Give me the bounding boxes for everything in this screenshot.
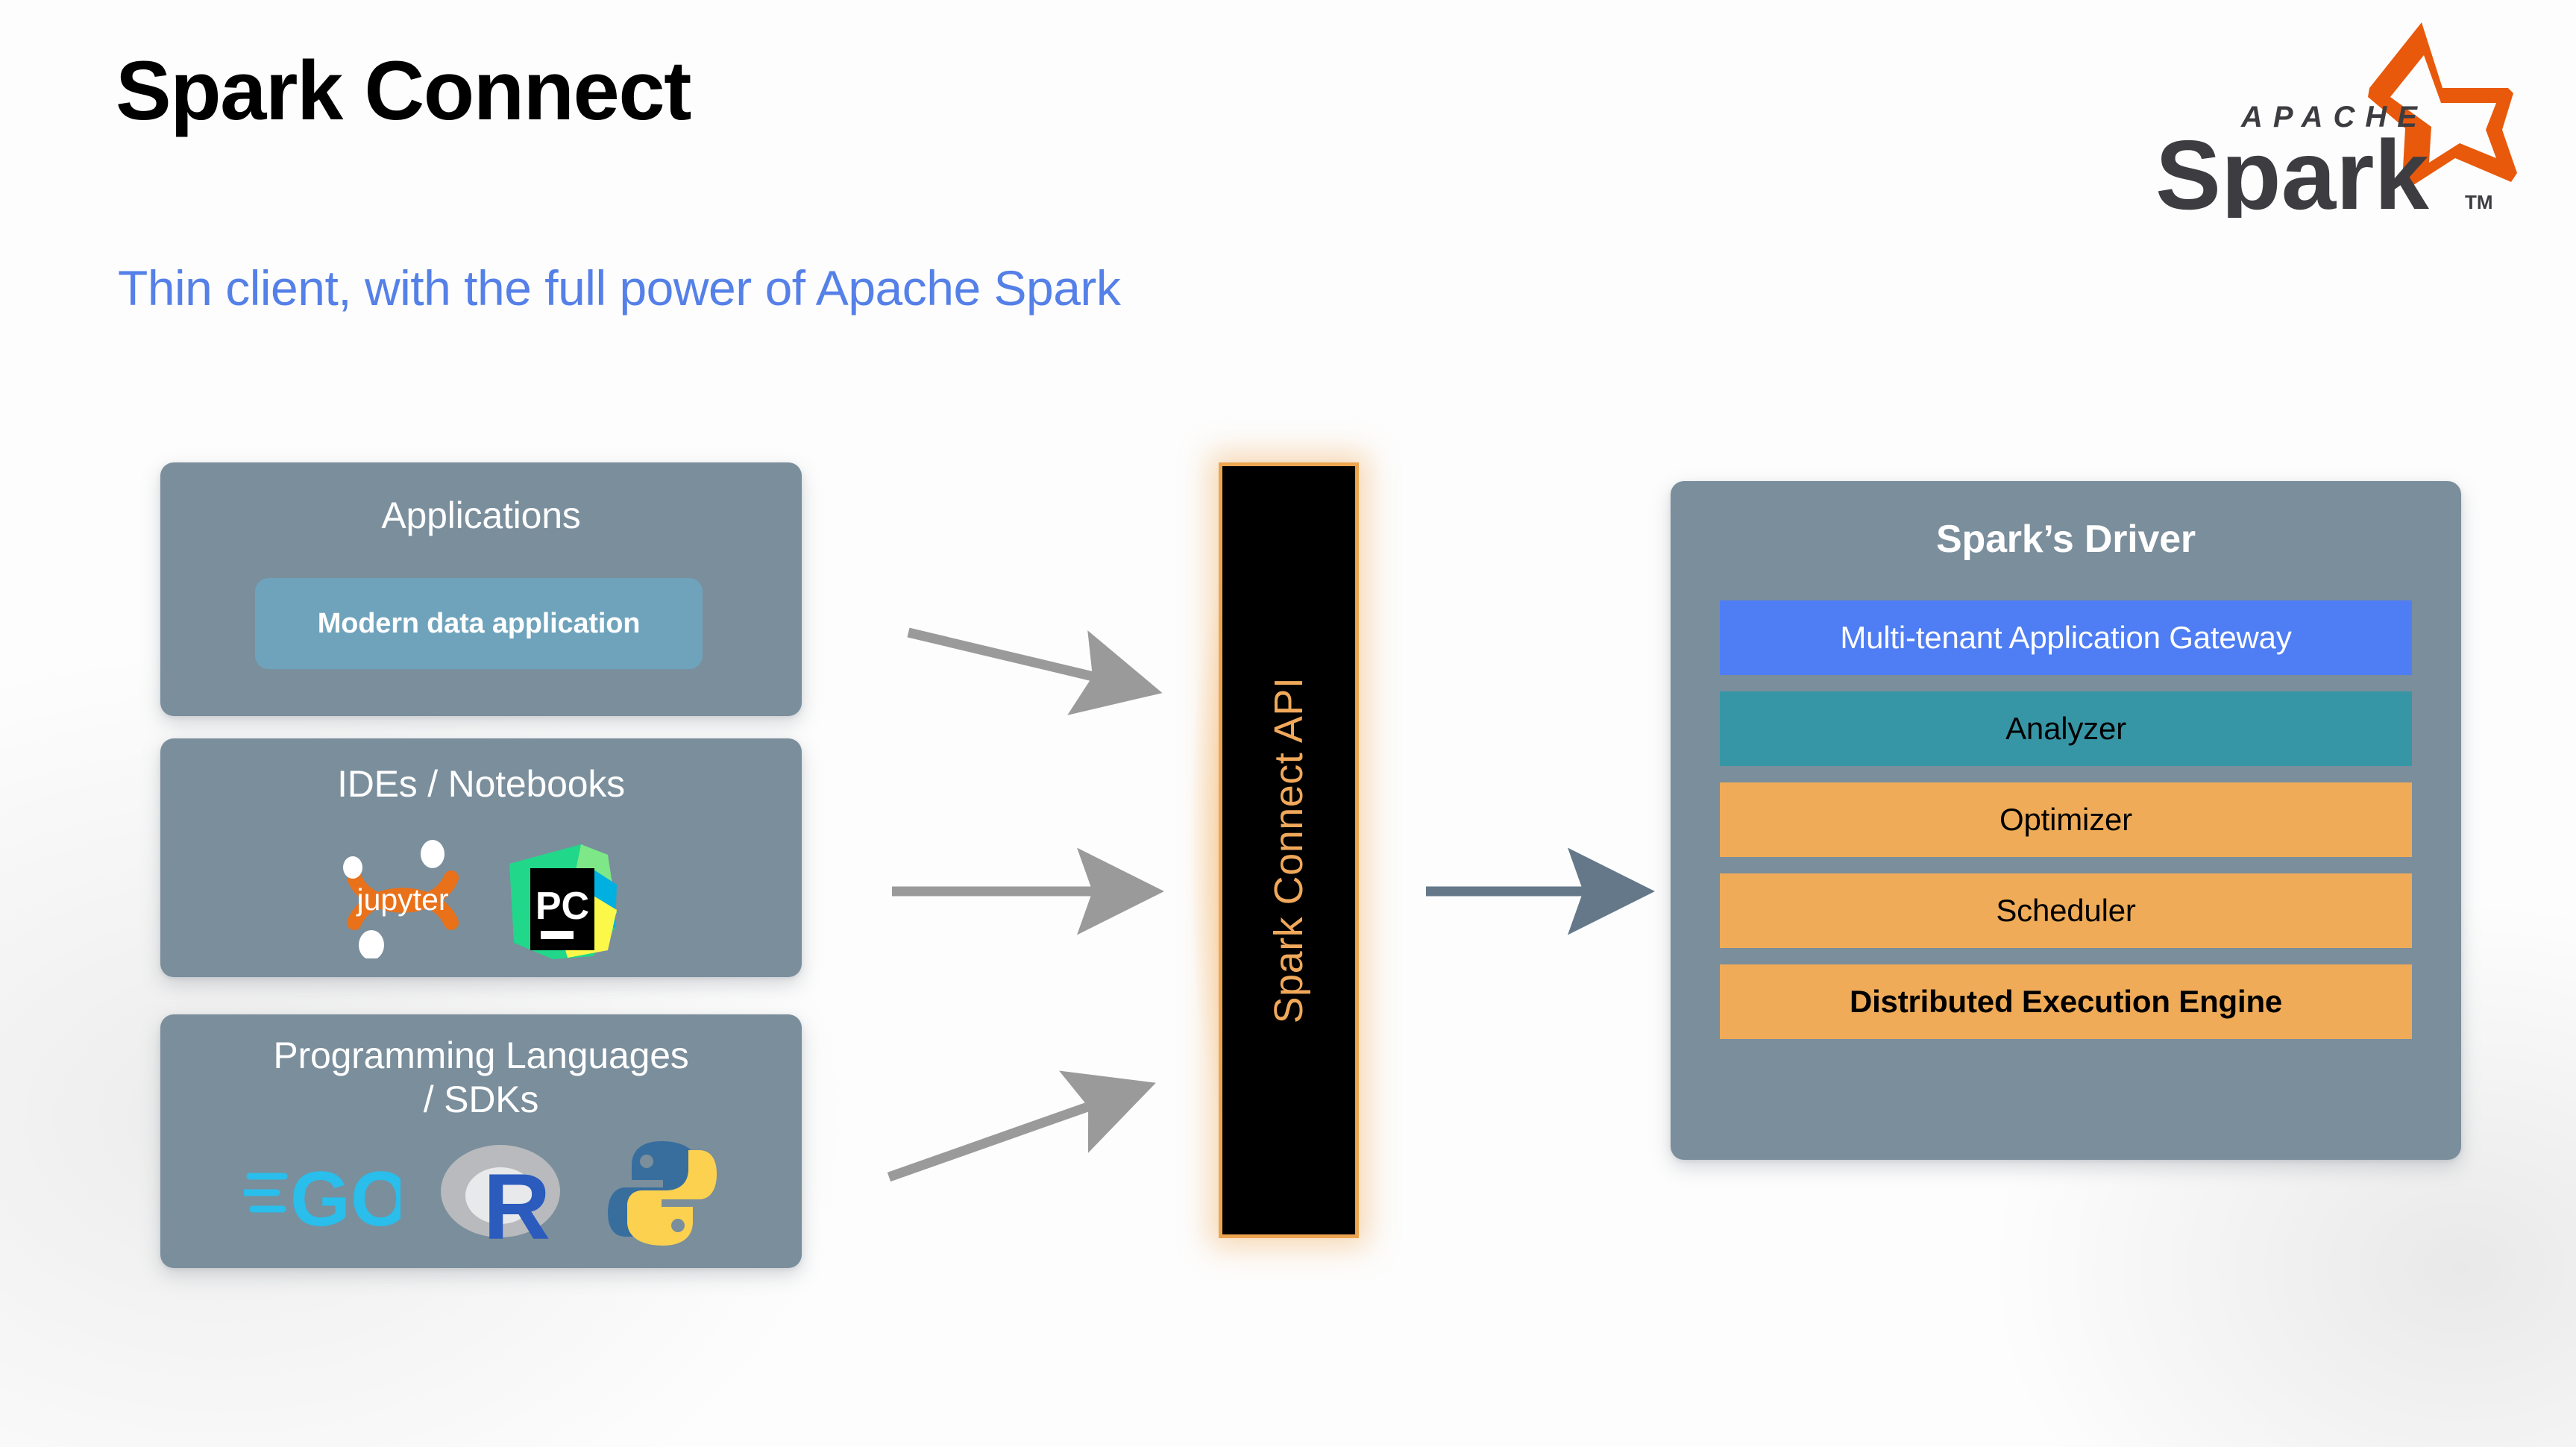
go-logo: GO bbox=[244, 1145, 400, 1242]
pycharm-logo: PC bbox=[503, 838, 623, 959]
language-logo-row: GO R bbox=[160, 1134, 802, 1253]
svg-text:GO: GO bbox=[290, 1156, 400, 1242]
driver-row-optimizer[interactable]: Optimizer bbox=[1720, 782, 2412, 857]
apache-spark-logo: APACHE Spark TM bbox=[2129, 16, 2547, 218]
driver-row-analyzer[interactable]: Analyzer bbox=[1720, 691, 2412, 766]
svg-text:TM: TM bbox=[2465, 191, 2493, 213]
r-logo: R bbox=[436, 1137, 571, 1249]
driver-component-list: Multi-tenant Application Gateway Analyze… bbox=[1720, 600, 2412, 1039]
driver-row-scheduler-label: Scheduler bbox=[1996, 893, 2135, 929]
slide-canvas: Spark Connect Thin client, with the full… bbox=[0, 0, 2576, 1447]
driver-row-execution-engine-label: Distributed Execution Engine bbox=[1850, 984, 2282, 1020]
ide-logo-row: jupyter PC bbox=[160, 835, 802, 962]
panel-languages-title: Programming Languages / SDKs bbox=[160, 1034, 802, 1122]
svg-text:R: R bbox=[483, 1155, 550, 1249]
page-title: Spark Connect bbox=[116, 43, 691, 139]
panel-programming-languages[interactable]: Programming Languages / SDKs GO bbox=[160, 1014, 802, 1268]
driver-row-optimizer-label: Optimizer bbox=[1999, 802, 2132, 838]
panel-sparks-driver[interactable]: Spark’s Driver Multi-tenant Application … bbox=[1671, 481, 2461, 1160]
arrow-applications-to-api bbox=[908, 633, 1096, 677]
modern-data-application-card[interactable]: Modern data application bbox=[255, 578, 703, 669]
driver-row-analyzer-label: Analyzer bbox=[2005, 711, 2126, 747]
driver-row-scheduler[interactable]: Scheduler bbox=[1720, 873, 2412, 948]
panel-ides-notebooks[interactable]: IDEs / Notebooks jupyter bbox=[160, 738, 802, 977]
panel-applications[interactable]: Applications Modern data application bbox=[160, 462, 802, 716]
panel-driver-title: Spark’s Driver bbox=[1671, 517, 2461, 562]
panel-spark-connect-api[interactable]: Spark Connect API bbox=[1219, 462, 1359, 1238]
modern-data-application-label: Modern data application bbox=[318, 608, 640, 640]
python-logo bbox=[606, 1137, 718, 1250]
svg-text:jupyter: jupyter bbox=[356, 882, 448, 917]
spark-connect-api-label: Spark Connect API bbox=[1266, 677, 1312, 1024]
jupyter-logo: jupyter bbox=[339, 839, 466, 958]
driver-row-execution-engine[interactable]: Distributed Execution Engine bbox=[1720, 964, 2412, 1039]
page-subtitle: Thin client, with the full power of Apac… bbox=[118, 260, 1120, 316]
driver-row-gateway-label: Multi-tenant Application Gateway bbox=[1840, 620, 2291, 656]
panel-applications-title: Applications bbox=[160, 494, 802, 538]
driver-row-gateway[interactable]: Multi-tenant Application Gateway bbox=[1720, 600, 2412, 675]
svg-text:Spark: Spark bbox=[2155, 120, 2429, 218]
arrow-languages-to-api bbox=[889, 1105, 1092, 1177]
svg-text:PC: PC bbox=[535, 885, 589, 928]
panel-ides-title: IDEs / Notebooks bbox=[160, 762, 802, 806]
